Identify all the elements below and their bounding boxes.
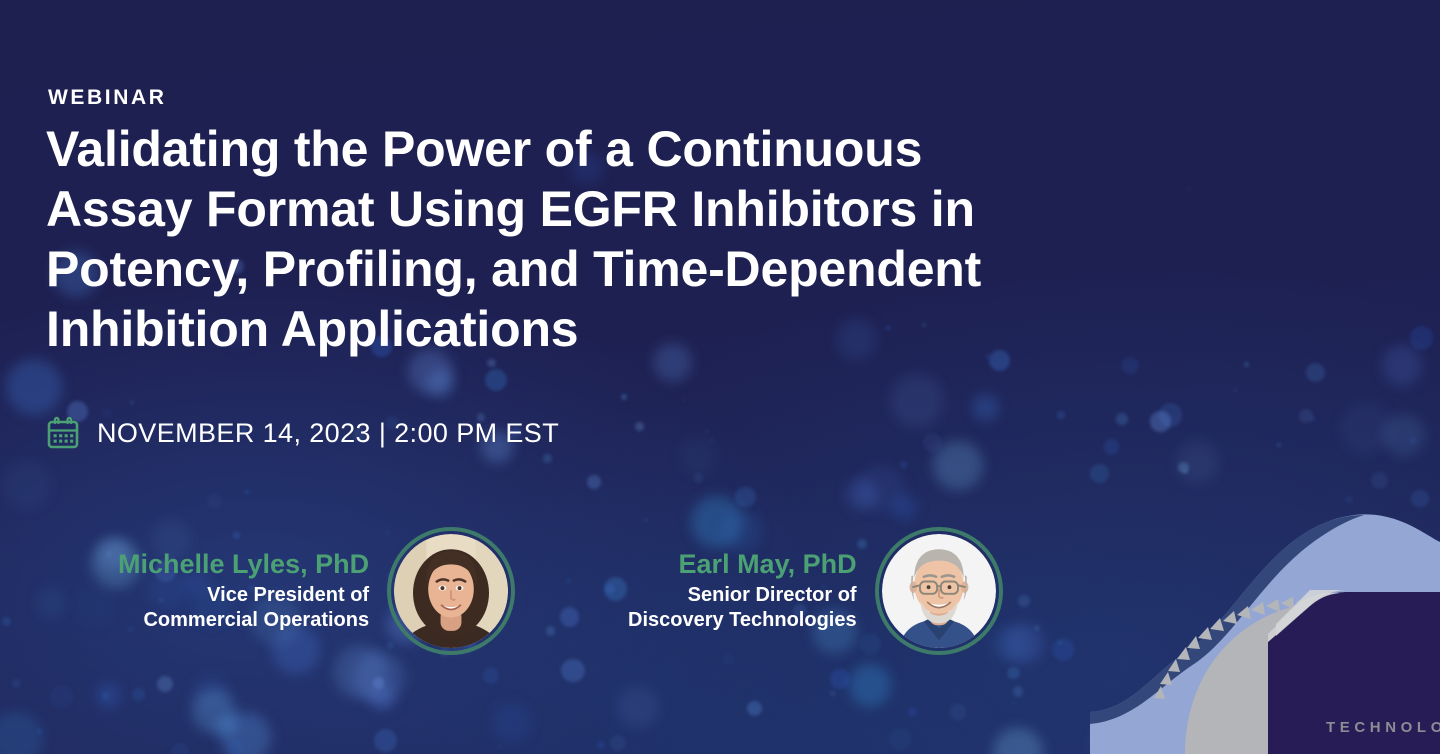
speaker-2-role-line-2: Discovery Technologies: [628, 608, 857, 633]
title-line-4: Inhibition Applications: [46, 299, 1336, 359]
content-layer: WEBINAR Validating the Power of a Contin…: [0, 0, 1440, 754]
speaker-1-avatar: [387, 527, 515, 655]
page-title: Validating the Power of a Continuous Ass…: [46, 119, 1336, 359]
speaker-1-role: Vice President of Commercial Operations: [118, 583, 369, 633]
speaker-1-role-line-2: Commercial Operations: [118, 608, 369, 633]
title-line-2: Assay Format Using EGFR Inhibitors in: [46, 179, 1336, 239]
speaker-card-2: Earl May, PhD Senior Director of Discove…: [628, 527, 1003, 655]
eyebrow-label: WEBINAR: [48, 86, 167, 110]
speaker-2-role-line-1: Senior Director of: [628, 583, 857, 608]
speaker-2-text: Earl May, PhD Senior Director of Discove…: [628, 549, 857, 633]
speaker-2-avatar: [875, 527, 1003, 655]
speaker-1-photo: [394, 534, 508, 648]
speaker-1-role-line-1: Vice President of: [118, 583, 369, 608]
speaker-card-1: Michelle Lyles, PhD Vice President of Co…: [118, 527, 515, 655]
speaker-2-name: Earl May, PhD: [628, 549, 857, 580]
title-line-3: Potency, Profiling, and Time-Dependent: [46, 239, 1336, 299]
speaker-1-text: Michelle Lyles, PhD Vice President of Co…: [118, 549, 369, 633]
event-datetime-label: NOVEMBER 14, 2023 | 2:00 PM EST: [97, 418, 559, 449]
promo-canvas: TECHNOLOGIES INC. WEBINAR Validating the…: [0, 0, 1440, 754]
speakers-row: Michelle Lyles, PhD Vice President of Co…: [0, 505, 1100, 675]
title-line-1: Validating the Power of a Continuous: [46, 119, 1336, 179]
speaker-1-name: Michelle Lyles, PhD: [118, 549, 369, 580]
speaker-2-photo: [882, 534, 996, 648]
speaker-2-role: Senior Director of Discovery Technologie…: [628, 583, 857, 633]
event-datetime: NOVEMBER 14, 2023 | 2:00 PM EST: [46, 416, 559, 450]
calendar-icon: [46, 416, 80, 450]
